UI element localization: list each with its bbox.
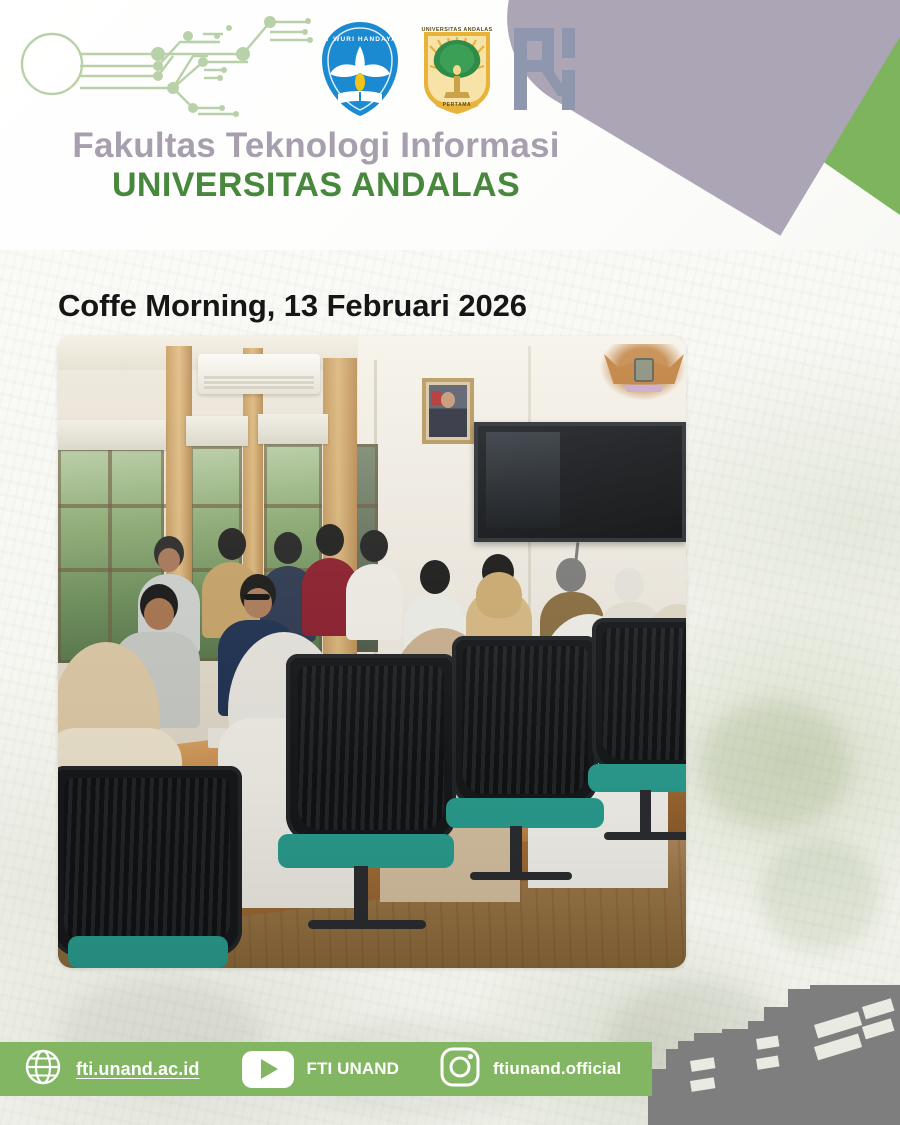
tut-wuri-handayani-logo: TUT WURI HANDAYANI [318,20,402,118]
youtube-label: FTI UNAND [307,1059,400,1079]
svg-text:PERTAMA: PERTAMA [443,102,472,108]
footer-bar: fti.unand.ac.id FTI UNAND ftiunand.offic… [0,1042,652,1096]
youtube-icon [242,1051,294,1088]
building-silhouette-decor [648,985,900,1125]
logo-row: TUT WURI HANDAYANI [318,20,578,118]
svg-text:UNIVERSITAS ANDALAS: UNIVERSITAS ANDALAS [421,27,492,33]
universitas-andalas-crest: UNIVERSITAS ANDALAS PERTAMA [416,22,498,117]
event-title: Coffe Morning, 13 Februari 2026 [58,288,527,324]
website-link[interactable]: fti.unand.ac.id [24,1048,200,1091]
website-label: fti.unand.ac.id [76,1059,200,1080]
institution-wordmark: Fakultas Teknologi Informasi UNIVERSITAS… [0,128,632,204]
university-name: UNIVERSITAS ANDALAS [0,166,632,204]
circuit-decor-graphic [8,4,328,134]
poster-canvas: TUT WURI HANDAYANI [0,0,900,1125]
fti-monogram-logo [512,26,578,112]
instagram-icon [439,1046,481,1093]
instagram-link[interactable]: ftiunand.official [439,1046,621,1093]
event-photo [58,336,686,968]
svg-text:TUT WURI HANDAYANI: TUT WURI HANDAYANI [318,36,402,43]
youtube-link[interactable]: FTI UNAND [242,1051,400,1088]
instagram-label: ftiunand.official [493,1059,621,1079]
globe-icon [24,1048,62,1091]
faculty-name: Fakultas Teknologi Informasi [0,128,632,165]
